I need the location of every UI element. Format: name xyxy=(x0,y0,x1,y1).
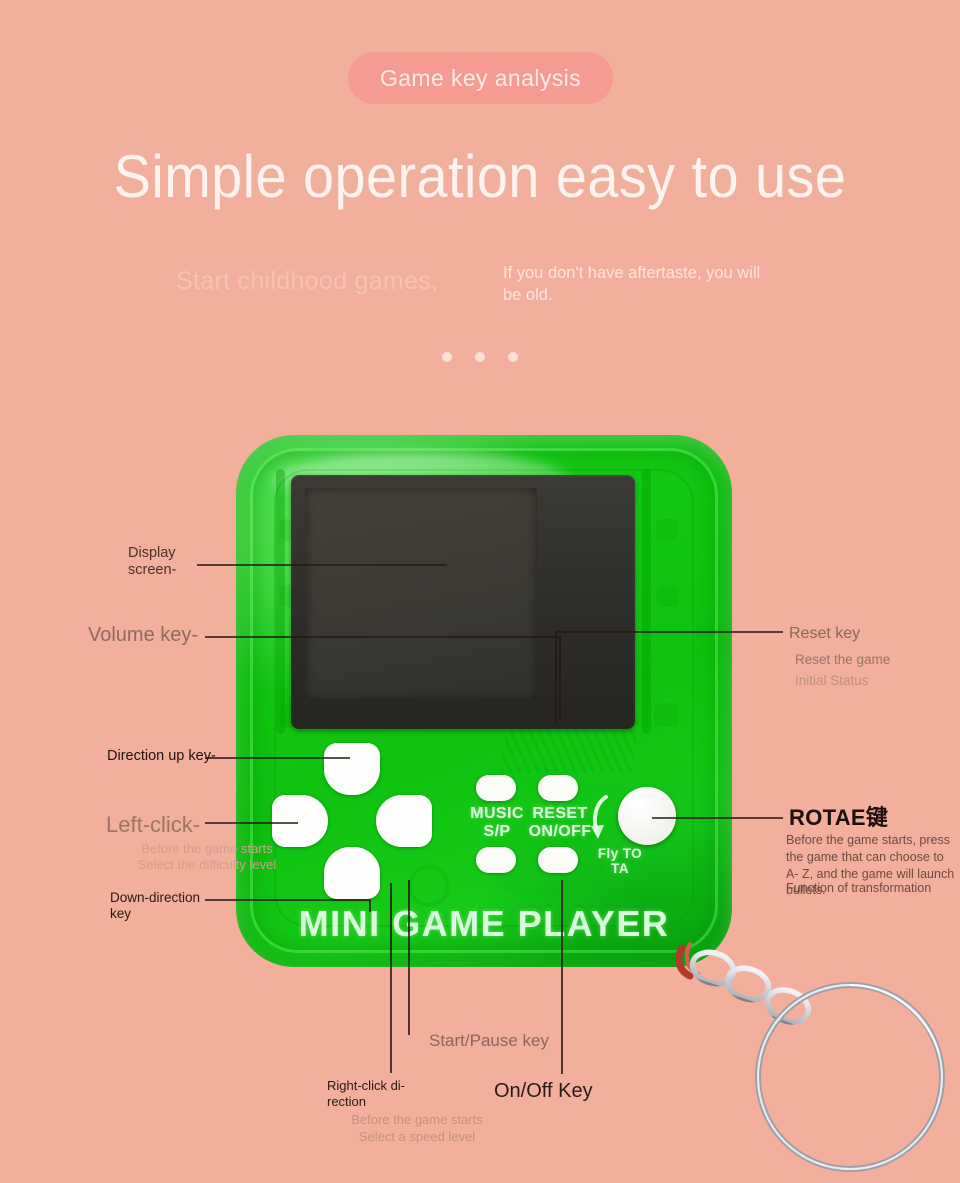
label-direction-up-key: Direction up key- xyxy=(107,748,216,764)
rotate-key[interactable] xyxy=(618,787,676,845)
subtitle-right: If you don't have aftertaste, you will b… xyxy=(503,263,778,307)
section-badge-label: Game key analysis xyxy=(380,65,581,92)
direction-up-key[interactable] xyxy=(324,743,380,795)
label-right-click: Right-click di- rection xyxy=(327,1078,447,1110)
product-infographic: Game key analysis Simple operation easy … xyxy=(0,0,960,1183)
reset-key[interactable] xyxy=(538,775,578,801)
keychain-split-ring xyxy=(758,985,942,1169)
direction-left-key[interactable] xyxy=(272,795,328,847)
label-volume-key: Volume key- xyxy=(88,624,198,647)
label-on-off-key: On/Off Key xyxy=(494,1080,593,1103)
label-start-pause-key: Start/Pause key xyxy=(429,1031,549,1051)
dot-icon xyxy=(442,352,452,362)
screen-bezel-right xyxy=(642,469,651,734)
subtitle-left: Start childhood games, xyxy=(176,267,438,296)
reset-key-print: RESET ON/OFF xyxy=(519,805,601,841)
separator-dots xyxy=(0,352,960,362)
display-screen xyxy=(291,475,635,729)
label-left-click: Left-click- xyxy=(106,812,200,838)
direction-down-key[interactable] xyxy=(324,847,380,899)
fly-to-ta-print: Fly TO TA xyxy=(594,847,646,877)
lcd-panel xyxy=(305,488,537,700)
label-right-click-sub: Before the game starts Select a speed le… xyxy=(322,1111,512,1145)
label-down-direction-key: Down-direction key xyxy=(110,890,200,922)
dot-icon xyxy=(508,352,518,362)
keychain-links xyxy=(688,947,813,1028)
page-headline: Simple operation easy to use xyxy=(34,147,927,207)
label-left-click-sub: Before the game starts Select the diffic… xyxy=(118,841,296,873)
music-volume-key[interactable] xyxy=(476,775,516,801)
label-reset-key-sub: Reset the game Initial Status xyxy=(795,650,890,692)
label-rotae-key: ROTAE键 xyxy=(789,800,888,832)
label-rotae-key-sub-2: Function of transformation xyxy=(786,881,960,895)
brand-print: MINI GAME PLAYER xyxy=(236,903,732,945)
label-display-screen: Display screen- xyxy=(128,545,176,580)
label-reset-key: Reset key xyxy=(789,625,860,643)
mini-game-player-device: MUSIC S/P RESET ON/OFF Fly TO TA MINI GA… xyxy=(236,435,732,967)
label-display-screen-text: Display screen- xyxy=(128,545,176,578)
keychain xyxy=(660,930,960,1183)
start-pause-key[interactable] xyxy=(476,847,516,873)
direction-right-key[interactable] xyxy=(376,795,432,847)
screen-bezel-left xyxy=(276,469,285,734)
label-reset-key-sub-2: Initial Status xyxy=(795,671,890,692)
on-off-key[interactable] xyxy=(538,847,578,873)
section-badge: Game key analysis xyxy=(348,52,613,104)
label-reset-key-sub-1: Reset the game xyxy=(795,650,890,671)
dot-icon xyxy=(475,352,485,362)
